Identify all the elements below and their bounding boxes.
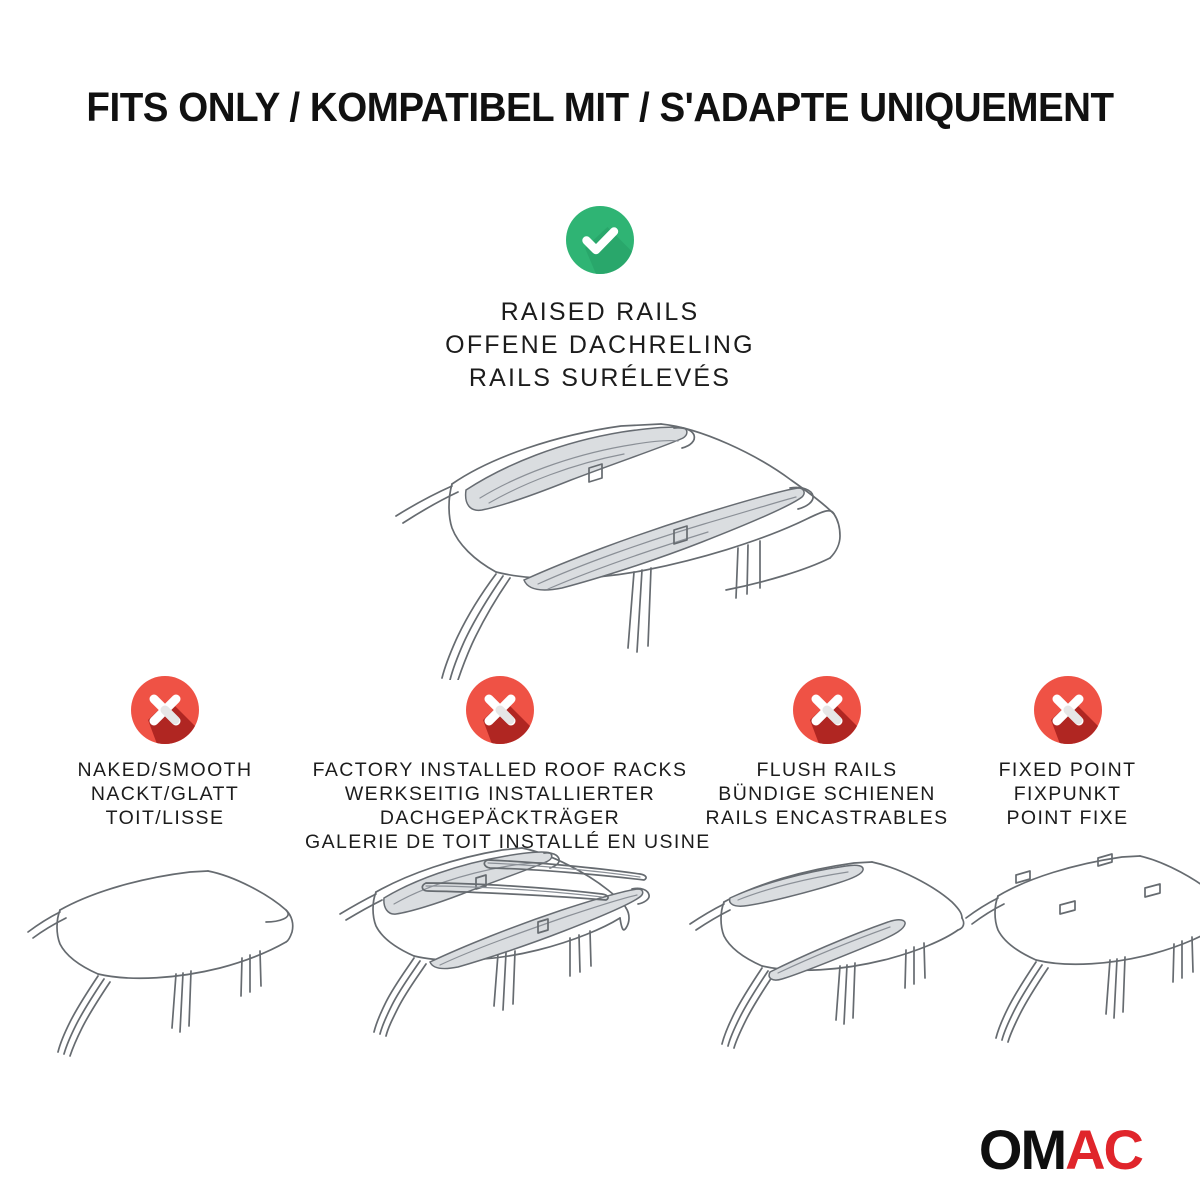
omac-logo: OMAC bbox=[979, 1122, 1142, 1178]
cross-circle-icon bbox=[1034, 676, 1102, 744]
label-flush-fr: RAILS ENCASTRABLES bbox=[682, 806, 972, 830]
label-fixedpoint-fr: POINT FIXE bbox=[960, 806, 1175, 830]
cross-circle-icon bbox=[131, 676, 199, 744]
label-naked-de: NACKT/GLATT bbox=[20, 782, 310, 806]
compatible-labels: RAISED RAILS OFFENE DACHRELING RAILS SUR… bbox=[0, 296, 1200, 395]
cross-circle-icon bbox=[793, 676, 861, 744]
label-factory-en: FACTORY INSTALLED ROOF RACKS bbox=[305, 758, 695, 782]
compatible-section: RAISED RAILS OFFENE DACHRELING RAILS SUR… bbox=[0, 206, 1200, 395]
logo-text-dark: OM bbox=[979, 1118, 1065, 1181]
incompatible-labels-naked: NAKED/SMOOTH NACKT/GLATT TOIT/LISSE bbox=[20, 758, 310, 830]
compatible-label-en: RAISED RAILS bbox=[0, 296, 1200, 329]
label-fixedpoint-de: FIXPUNKT bbox=[960, 782, 1175, 806]
check-circle-icon bbox=[566, 206, 634, 274]
incompatible-section: NAKED/SMOOTH NACKT/GLATT TOIT/LISSE bbox=[0, 676, 1200, 1176]
car-roof-factory-racks-illustration bbox=[305, 836, 695, 1051]
compatible-label-de: OFFENE DACHRELING bbox=[0, 329, 1200, 362]
cross-circle-icon bbox=[466, 676, 534, 744]
car-roof-naked-illustration bbox=[20, 862, 310, 1062]
compatible-label-fr: RAILS SURÉLEVÉS bbox=[0, 362, 1200, 395]
logo-text-red: AC bbox=[1065, 1118, 1142, 1181]
car-roof-fixed-point-illustration bbox=[960, 846, 1175, 1046]
label-factory-de-1: WERKSEITIG INSTALLIERTER bbox=[305, 782, 695, 806]
label-naked-fr: TOIT/LISSE bbox=[20, 806, 310, 830]
label-flush-de: BÜNDIGE SCHIENEN bbox=[682, 782, 972, 806]
page-title: FITS ONLY / KOMPATIBEL MIT / S'ADAPTE UN… bbox=[36, 84, 1164, 131]
incompatible-item-fixedpoint: FIXED POINT FIXPUNKT POINT FIXE bbox=[960, 676, 1175, 830]
incompatible-item-naked: NAKED/SMOOTH NACKT/GLATT TOIT/LISSE bbox=[20, 676, 310, 830]
label-naked-en: NAKED/SMOOTH bbox=[20, 758, 310, 782]
car-roof-raised-rails-illustration bbox=[356, 402, 852, 680]
incompatible-labels-fixedpoint: FIXED POINT FIXPUNKT POINT FIXE bbox=[960, 758, 1175, 830]
car-roof-flush-rails-illustration bbox=[682, 852, 972, 1052]
compatibility-infographic: FITS ONLY / KOMPATIBEL MIT / S'ADAPTE UN… bbox=[0, 0, 1200, 1200]
label-fixedpoint-en: FIXED POINT bbox=[960, 758, 1175, 782]
label-factory-de-2: DACHGEPÄCKTRÄGER bbox=[305, 806, 695, 830]
incompatible-item-flush: FLUSH RAILS BÜNDIGE SCHIENEN RAILS ENCAS… bbox=[682, 676, 972, 830]
label-flush-en: FLUSH RAILS bbox=[682, 758, 972, 782]
incompatible-labels-flush: FLUSH RAILS BÜNDIGE SCHIENEN RAILS ENCAS… bbox=[682, 758, 972, 830]
incompatible-item-factory: FACTORY INSTALLED ROOF RACKS WERKSEITIG … bbox=[305, 676, 695, 854]
